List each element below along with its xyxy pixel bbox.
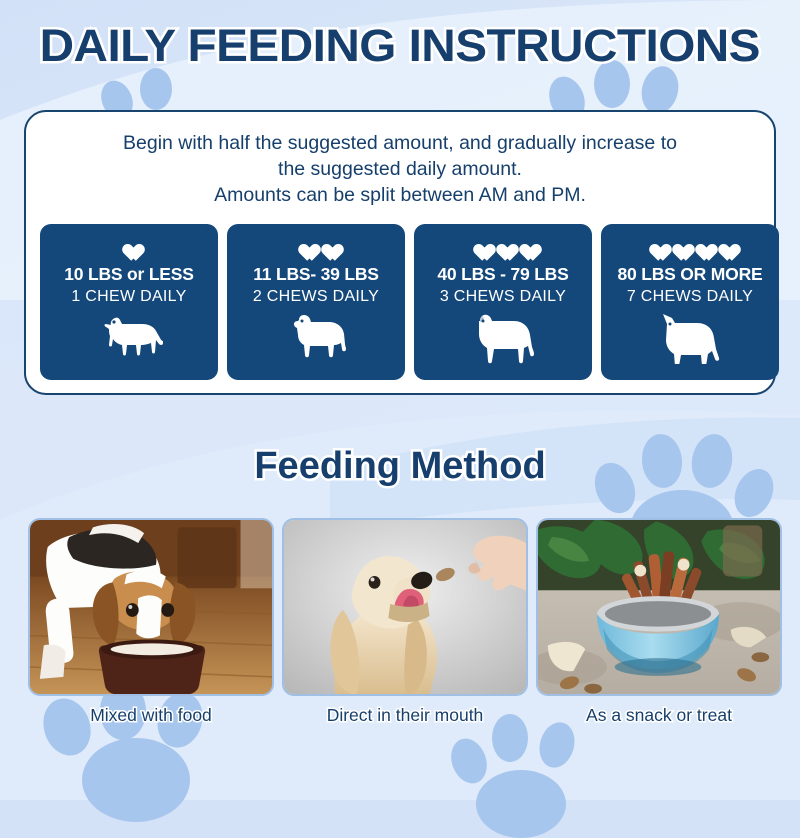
- heart-rating: [295, 233, 338, 257]
- feeding-method-gallery: Mixed with food: [28, 518, 782, 726]
- method-item: Mixed with food: [28, 518, 274, 726]
- weight-range-label: 11 LBS- 39 LBS: [253, 264, 379, 285]
- page-title: DAILY FEEDING INSTRUCTIONS: [40, 20, 760, 72]
- dose-label: 2 CHEWS DAILY: [253, 288, 379, 306]
- intro-line-2: the suggested daily amount.: [60, 156, 740, 182]
- shepherd-silhouette-icon: [655, 312, 725, 369]
- weight-card: 10 LBS or LESS 1 CHEW DAILY: [40, 224, 218, 380]
- weight-card: 11 LBS- 39 LBS 2 CHEWS DAILY: [227, 224, 405, 380]
- dose-label: 7 CHEWS DAILY: [627, 288, 753, 306]
- section-title-feeding-method: Feeding Method: [254, 445, 545, 487]
- dose-label: 1 CHEW DAILY: [71, 288, 186, 306]
- weight-range-label: 80 LBS OR MORE: [617, 264, 762, 285]
- method-caption: As a snack or treat: [536, 705, 782, 726]
- weight-range-label: 10 LBS or LESS: [64, 264, 193, 285]
- method-caption: Direct in their mouth: [282, 705, 528, 726]
- heart-icon: [646, 235, 666, 255]
- heart-rating: [119, 233, 139, 257]
- weight-cards-row: 10 LBS or LESS 1 CHEW DAILY 11 LBS- 39 L…: [40, 224, 779, 380]
- weight-card: 40 LBS - 79 LBS 3 CHEWS DAILY: [414, 224, 592, 380]
- photo-beagle-eating-from-bowl: [28, 518, 274, 696]
- weight-card: 80 LBS OR MORE 7 CHEWS DAILY: [601, 224, 779, 380]
- small-dog-silhouette-icon: [95, 312, 163, 363]
- heart-icon: [692, 235, 712, 255]
- heart-icon: [669, 235, 689, 255]
- heart-rating: [646, 233, 735, 257]
- heart-icon: [516, 235, 536, 255]
- heart-rating: [470, 233, 536, 257]
- heart-icon: [119, 235, 139, 255]
- photo-blue-bowl-with-treat-sticks: [536, 518, 782, 696]
- weight-range-label: 40 LBS - 79 LBS: [437, 264, 568, 285]
- paw-print-bottom-center: [448, 708, 608, 838]
- dose-label: 3 CHEWS DAILY: [440, 288, 566, 306]
- method-item: As a snack or treat: [536, 518, 782, 726]
- photo-spaniel-taking-treat-from-hand: [282, 518, 528, 696]
- intro-line-3: Amounts can be split between AM and PM.: [60, 182, 740, 208]
- intro-text: Begin with half the suggested amount, an…: [26, 112, 774, 208]
- intro-line-1: Begin with half the suggested amount, an…: [60, 130, 740, 156]
- heart-icon: [318, 235, 338, 255]
- heart-icon: [493, 235, 513, 255]
- heart-icon: [470, 235, 490, 255]
- section-title-container: Feeding Method: [0, 445, 800, 488]
- method-item: Direct in their mouth: [282, 518, 528, 726]
- heart-icon: [295, 235, 315, 255]
- method-caption: Mixed with food: [28, 705, 274, 726]
- heart-icon: [715, 235, 735, 255]
- feeding-instructions-panel: Begin with half the suggested amount, an…: [24, 110, 776, 395]
- retriever-silhouette-icon: [470, 312, 536, 369]
- page-title-container: DAILY FEEDING INSTRUCTIONS: [0, 20, 800, 72]
- bulldog-silhouette-icon: [285, 312, 347, 365]
